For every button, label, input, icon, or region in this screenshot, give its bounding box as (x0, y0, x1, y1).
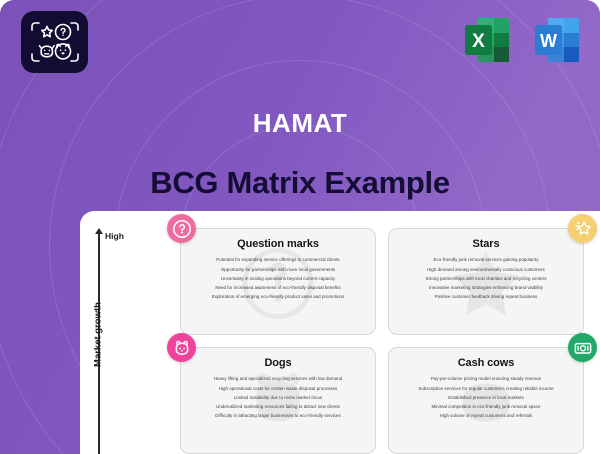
quadrant-title: Cash cows (389, 357, 583, 369)
list-item: Difficulty in attracting larger business… (181, 412, 375, 421)
office-app-icons: X W (458, 11, 586, 69)
quadrant-title: Dogs (181, 357, 375, 369)
list-item: High operational costs for certain waste… (181, 384, 375, 393)
quadrant-item-list: Eco-friendly junk removal services gaini… (389, 256, 583, 302)
list-item: Need for increased awareness of eco-frie… (181, 284, 375, 293)
list-item: Eco-friendly junk removal services gaini… (389, 256, 583, 265)
excel-icon[interactable]: X (458, 11, 516, 69)
star-icon (568, 214, 597, 243)
bcg-matrix-slide: X W HAMAT BCG Matrix Example High Market… (0, 0, 600, 454)
dog-icon (167, 333, 196, 362)
list-item: Positive customer feedback driving repea… (389, 293, 583, 302)
quadrant-dogs[interactable]: Dogs Heavy lifting and specialized recyc… (180, 347, 376, 454)
quadrant-item-list: Pay-per-volume pricing model ensuring st… (389, 375, 583, 421)
quadrant-item-list: Heavy lifting and specialized recycling … (181, 375, 375, 421)
bcg-matrix-logo-icon[interactable] (21, 11, 88, 73)
list-item: Subscription services for regular custom… (389, 384, 583, 393)
quadrant-stars[interactable]: Stars Eco-friendly junk removal services… (388, 228, 584, 335)
list-item: Uncertainty in scaling operations beyond… (181, 274, 375, 283)
list-item: Opportunity for partnerships with more l… (181, 265, 375, 274)
list-item: Innovative marketing strategies enhancin… (389, 284, 583, 293)
list-item: High demand among environmentally consci… (389, 265, 583, 274)
list-item: Minimal competition in eco-friendly junk… (389, 403, 583, 412)
y-axis-label: Market growth (93, 292, 104, 378)
list-item: Limited scalability due to niche market … (181, 393, 375, 402)
list-item: Established presence in local markets (389, 393, 583, 402)
quadrant-title: Stars (389, 238, 583, 250)
list-item: Exploration of emerging eco-friendly pro… (181, 293, 375, 302)
list-item: Underutilized marketing resources failin… (181, 403, 375, 412)
quadrant-item-list: Potential for expanding service offering… (181, 256, 375, 302)
list-item: High volume of repeat customers and refe… (389, 412, 583, 421)
list-item: Pay-per-volume pricing model ensuring st… (389, 375, 583, 384)
matrix-panel: High Market growth Question marks (80, 211, 600, 454)
svg-text:X: X (472, 31, 485, 52)
quadrant-question-marks[interactable]: Question marks Potential for expanding s… (180, 228, 376, 335)
y-axis-high-label: High (105, 231, 124, 241)
quadrant-title: Question marks (181, 238, 375, 250)
list-item: Heavy lifting and specialized recycling … (181, 375, 375, 384)
quadrant-grid: Question marks Potential for expanding s… (180, 228, 584, 454)
list-item: Strong partnerships with local charities… (389, 274, 583, 283)
page-title: BCG Matrix Example (0, 165, 600, 201)
question-mark-icon (167, 214, 196, 243)
money-icon (568, 333, 597, 362)
list-item: Potential for expanding service offering… (181, 256, 375, 265)
brand-name: HAMAT (0, 108, 600, 139)
svg-text:W: W (540, 31, 557, 51)
word-icon[interactable]: W (528, 11, 586, 69)
quadrant-cash-cows[interactable]: Cash cows Pay-per-volume pricing model e… (388, 347, 584, 454)
